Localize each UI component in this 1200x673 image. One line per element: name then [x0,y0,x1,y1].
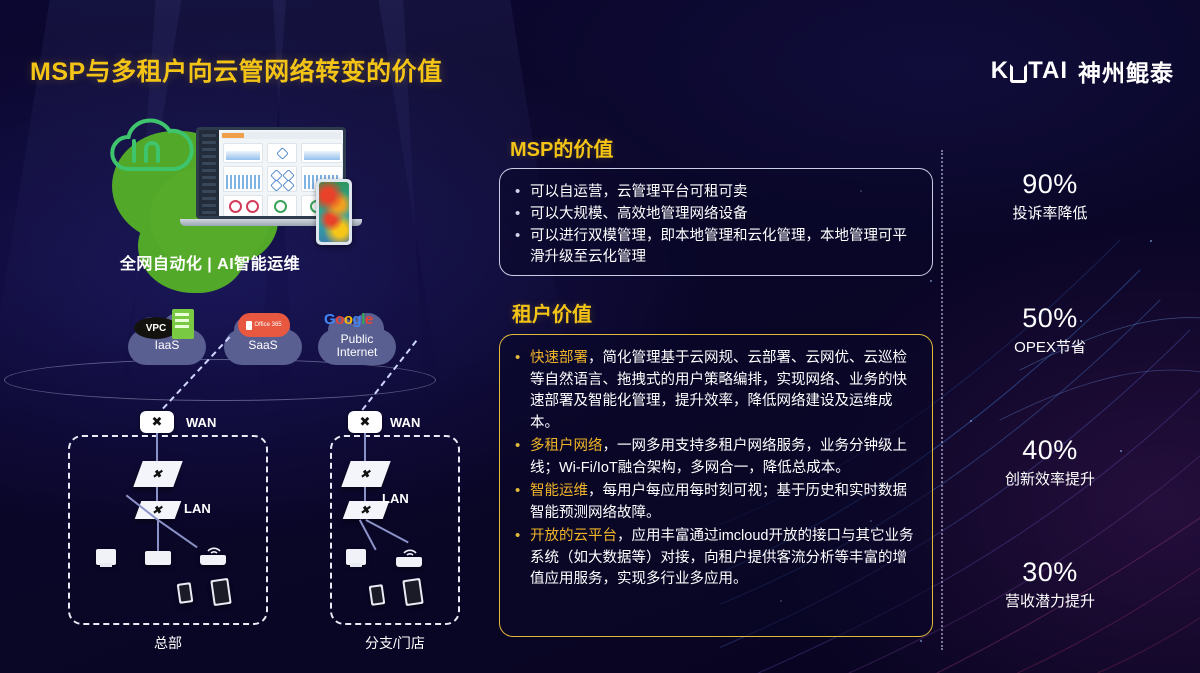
tenant-value-panel: 快速部署，简化管理基于云网规、云部署、云网优、云巡检等自然语言、拖拽式的用户策略… [499,334,933,637]
slide-canvas: MSP与多租户向云管网络转变的价值 K TAI 神州鲲泰 [0,0,1200,673]
list-item: 多租户网络，一网多用支持多租户网络服务，业务分钟级上线；Wi-Fi/IoT融合架… [514,436,916,479]
stat-label: 营收潜力提升 [955,590,1145,611]
list-item: 开放的云平台，应用丰富通过imcloud开放的接口与其它业务系统（如大数据等）对… [514,526,916,591]
desktop-pc-branch [346,549,366,565]
stat-label: 创新效率提升 [955,468,1145,489]
logo-text-left: K [991,57,1009,85]
stat-opex-saving: 50% OPEX节省 [955,302,1145,357]
stat-value: 50% [955,302,1145,334]
dashboard-card [223,143,263,163]
msp-bullet-list: 可以自运营，云管理平台可租可卖 可以大规模、高效地管理网络设备 可以进行双模管理… [514,182,916,268]
dashboard-card [267,143,297,163]
wifi-signal-icon [206,541,222,555]
cloud-service-iaas: VPC IaaS [128,329,206,365]
dashboard-card [301,143,343,163]
cloud-service-public-internet: Google Public Internet [318,329,396,365]
tablet-hq [177,582,194,604]
wan-router-branch: ✖ [348,411,382,433]
list-item: 快速部署，简化管理基于云网规、云部署、云网优、云巡检等自然语言、拖拽式的用户策略… [514,348,916,434]
cloud-service-label: SaaS [224,339,302,352]
network-topology: ✖ WAN ✖ ✖ LAN 总部 ✖ WAN [0,395,470,655]
page-title: MSP与多租户向云管网络转变的价值 [30,52,443,88]
logo-u-mark-icon [1010,64,1027,83]
stat-label: 投诉率降低 [955,202,1145,223]
dashboard-card [223,166,263,192]
topology-link [156,433,158,463]
wireless-ap-branch [396,557,422,567]
cloud-service-saas: Office 365 SaaS [224,329,302,365]
tablet-branch-2 [402,578,423,606]
desktop-pc-hq [96,549,116,565]
msp-heading: MSP的价值 [510,133,613,162]
site-label-hq: 总部 [68,633,268,653]
brand-logo: K TAI 神州鲲泰 [991,54,1174,88]
stat-innovation-efficiency: 40% 创新效率提升 [955,434,1145,489]
list-item: 可以大规模、高效地管理网络设备 [514,204,916,225]
wifi-signal-icon [402,543,418,557]
dashboard-gauge-card [267,195,297,217]
stat-value: 40% [955,434,1145,466]
printer-hq [145,551,171,565]
imcloud-cloud-logo-icon [104,111,200,181]
list-item: 智能运维，每用户每应用每时刻可视；基于历史和实时数据智能预测网络故障。 [514,481,916,524]
wireless-ap-hq [200,555,226,565]
vertical-dotted-divider [941,150,943,650]
wan-label-hq: WAN [186,415,216,430]
lan-label-hq: LAN [184,501,211,516]
illustration-caption: 全网自动化 | AI智能运维 [0,250,420,274]
wan-label-branch: WAN [390,415,420,430]
site-label-branch: 分支/门店 [330,633,460,653]
keyword: 快速部署 [530,350,588,366]
wifi-heatmap-screen [319,182,349,242]
keyword: 智能运维 [530,483,588,499]
lan-label-branch: LAN [382,491,409,506]
left-illustration: 全网自动化 | AI智能运维 VPC IaaS Office 365 SaaS … [0,95,470,655]
keyword: 开放的云平台 [530,528,617,544]
logo-text-right: TAI [1028,57,1068,85]
list-item: 可以自运营，云管理平台可租可卖 [514,182,916,203]
wan-router-hq: ✖ [140,411,174,433]
dashboard-card [267,166,297,192]
tablet-branch [369,584,386,606]
smartphone-device [316,179,352,245]
stat-label: OPEX节省 [955,336,1145,357]
topology-link [364,433,366,463]
cloud-service-label: Public Internet [318,333,396,359]
dashboard-sidebar [199,130,219,216]
stat-revenue-potential: 30% 营收潜力提升 [955,556,1145,611]
access-switch-hq: ✖ [135,501,182,519]
dashboard-topbar [221,132,341,139]
dashboard-gauge-card [223,195,263,217]
logo-chinese-name: 神州鲲泰 [1078,54,1174,88]
server-icon [172,309,194,339]
keyword: 多租户网络 [530,438,603,454]
laptop-device [196,127,354,239]
msp-value-panel: 可以自运营，云管理平台可租可卖 可以大规模、高效地管理网络设备 可以进行双模管理… [499,168,933,276]
tablet-hq-2 [210,578,231,606]
stat-value: 90% [955,168,1145,200]
stat-complaint-rate: 90% 投诉率降低 [955,168,1145,223]
tenant-bullet-list: 快速部署，简化管理基于云网规、云部署、云网优、云巡检等自然语言、拖拽式的用户策略… [514,348,916,591]
office365-icon: Office 365 [238,313,290,337]
cloud-service-label: IaaS [128,339,206,352]
logo-wordmark: K TAI [991,57,1068,85]
topology-link [157,519,159,551]
list-item: 可以进行双模管理，即本地管理和云化管理，本地管理可平滑升级至云化管理 [514,226,916,268]
tenant-heading: 租户价值 [512,298,592,327]
google-logo-icon: Google [324,311,373,328]
stat-value: 30% [955,556,1145,588]
